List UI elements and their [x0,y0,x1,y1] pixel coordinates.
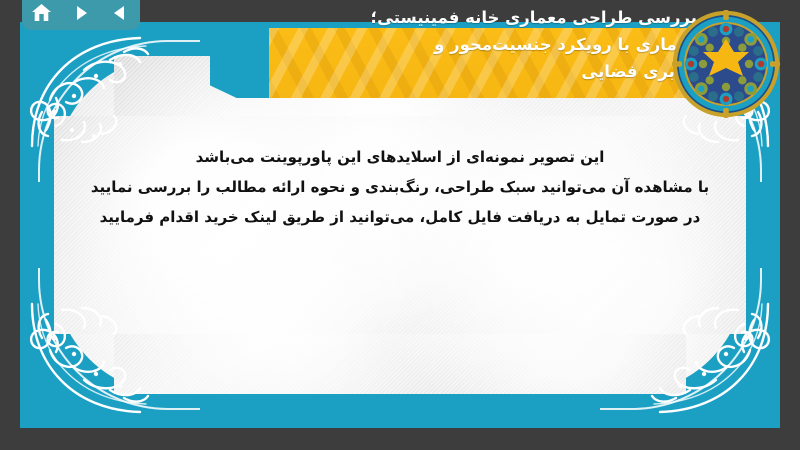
triangle-left-icon [111,4,129,22]
next-button[interactable] [68,1,94,25]
page-title: بررسی طراحی معماری خانه فمینیستی؛ معماری… [255,4,697,85]
previous-button[interactable] [107,1,133,25]
body-line-3: در صورت تمایل به دریافت فایل کامل، می‌تو… [80,202,720,232]
slide-body-text: این تصویر نمونه‌ای از اسلایدهای این پاور… [80,142,720,232]
slide-navigation-bar[interactable] [22,0,140,30]
home-button[interactable] [29,1,55,25]
body-line-1: این تصویر نمونه‌ای از اسلایدهای این پاور… [80,142,720,172]
body-line-2: با مشاهده آن می‌توانید سبک طراحی، رنگ‌بن… [80,172,720,202]
triangle-right-icon [72,4,90,22]
slide-viewer-stage: این تصویر نمونه‌ای از اسلایدهای این پاور… [0,0,800,450]
persian-medallion-icon [670,8,782,120]
home-icon [31,3,52,23]
slide-title-band: بررسی طراحی معماری خانه فمینیستی؛ معماری… [255,28,725,98]
